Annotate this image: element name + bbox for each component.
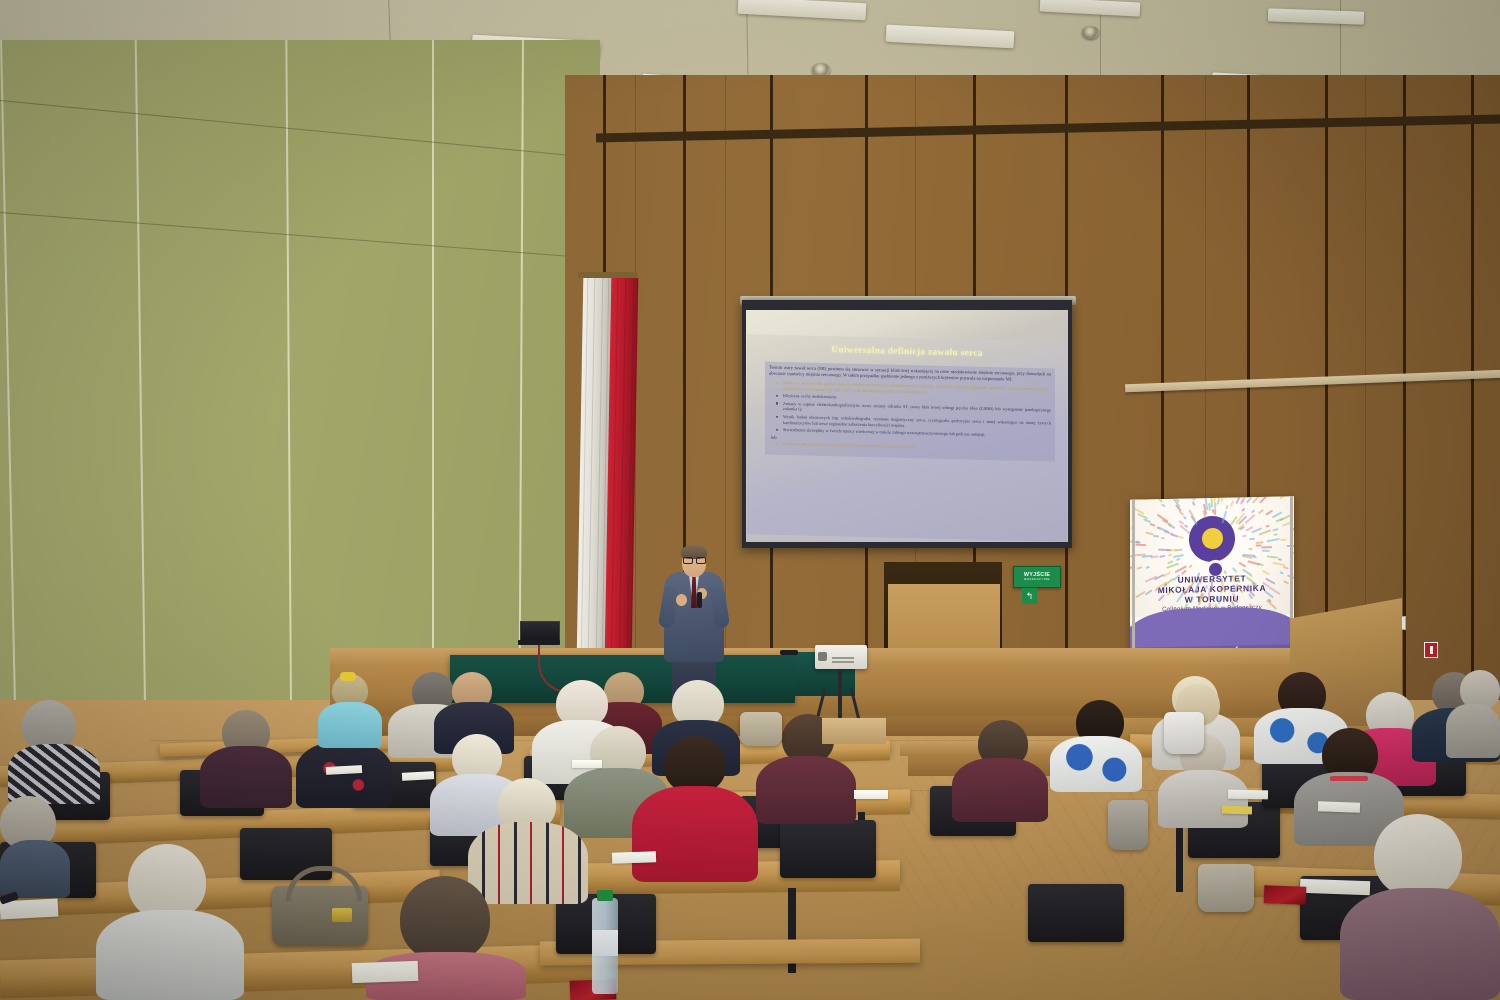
umk-logo-core-icon	[1202, 528, 1223, 549]
banner-ray-decoration	[1267, 538, 1280, 542]
exit-sign-line2: EWAKUACYJNE	[1024, 578, 1050, 581]
projector-vent	[832, 657, 854, 659]
projection-screen: Uniwersalna definicja zawału serca Termi…	[746, 310, 1068, 542]
banner-ray-decoration	[1265, 525, 1269, 528]
banner-ray-decoration	[1251, 509, 1255, 513]
banner-ray-decoration	[1214, 509, 1216, 515]
chair[interactable]	[780, 820, 876, 878]
banner-ray-decoration	[1149, 523, 1155, 527]
handout-paper[interactable]	[612, 851, 656, 864]
banner-ray-decoration	[1224, 570, 1227, 574]
remote-control[interactable]	[780, 650, 798, 655]
banner-ray-decoration	[1249, 537, 1255, 540]
banner-ray-decoration	[1189, 564, 1193, 568]
projector-vent	[832, 661, 854, 663]
exit-arrow-glyph: ↰	[1026, 591, 1034, 602]
handout-paper[interactable]	[1300, 879, 1370, 895]
glasses-icon	[683, 557, 704, 562]
banner-ray-decoration	[1230, 500, 1234, 506]
ceiling-speaker	[1082, 26, 1099, 39]
handbag[interactable]	[740, 712, 782, 746]
banner-ray-decoration	[1145, 532, 1154, 536]
banner-ray-decoration	[1192, 501, 1196, 505]
projector-lens-icon	[818, 652, 827, 661]
exit-arrow-icon: ↰	[1022, 588, 1037, 604]
banner-ray-decoration	[1153, 535, 1159, 538]
yellow-flyer[interactable]	[1222, 805, 1252, 814]
banner-ray-decoration	[1146, 566, 1150, 569]
banner-ray-decoration	[1240, 499, 1245, 505]
tote-bag[interactable]	[1198, 864, 1254, 912]
banner-ray-decoration	[1168, 554, 1172, 557]
handout-paper[interactable]	[1228, 790, 1268, 800]
hair-clip	[340, 672, 356, 681]
notebook[interactable]	[352, 961, 419, 983]
handout-paper[interactable]	[572, 760, 602, 768]
slide-body: Termin ostry zawał serca (MI) powinno si…	[765, 362, 1055, 462]
handbag[interactable]	[1108, 800, 1148, 850]
ceiling-light	[886, 25, 1015, 49]
banner-ray-decoration	[1232, 567, 1238, 573]
banner-ray-decoration	[1213, 496, 1215, 503]
banner-ray-decoration	[1211, 497, 1213, 508]
bottle-label	[592, 930, 618, 956]
banner-ray-decoration	[1248, 548, 1252, 551]
emergency-exit-sign: WYJŚCIE EWAKUACYJNE	[1013, 566, 1061, 588]
banner-ray-decoration	[1161, 503, 1165, 507]
banner-ray-decoration	[1255, 544, 1261, 546]
banner-ray-decoration	[1158, 549, 1171, 552]
banner-ray-decoration	[1265, 510, 1273, 516]
banner-ray-decoration	[1135, 544, 1146, 547]
handout-paper[interactable]	[854, 790, 888, 799]
handout-paper[interactable]	[402, 771, 434, 781]
presentation-slide: Uniwersalna definicja zawału serca Termi…	[747, 334, 1067, 542]
banner-logo-area: UNIWERSYTET MIKOŁAJA KOPERNIKA W TORUNIU…	[1130, 496, 1294, 617]
banner-ray-decoration	[1225, 505, 1228, 509]
banner-ray-decoration	[1272, 528, 1278, 531]
banner-ray-decoration	[1259, 529, 1272, 535]
banner-ray-decoration	[1183, 516, 1187, 520]
banner-ray-decoration	[1246, 496, 1253, 504]
banner-ray-decoration	[1267, 555, 1278, 558]
banner-ray-decoration	[1279, 496, 1283, 499]
microphone[interactable]	[697, 592, 702, 608]
banner-ray-decoration	[1156, 527, 1160, 530]
banner-ray-decoration	[1258, 509, 1264, 514]
banner-ray-decoration	[1241, 508, 1245, 512]
chair[interactable]	[1028, 884, 1124, 942]
banner-ray-decoration	[1273, 533, 1277, 536]
slide-title: Uniwersalna definicja zawału serca	[747, 343, 1067, 361]
banner-ray-decoration	[1282, 566, 1289, 570]
banner-ray-decoration	[1136, 566, 1142, 570]
bottle-cap[interactable]	[597, 890, 613, 901]
ceiling-light	[1040, 0, 1141, 17]
banner-ray-decoration	[1159, 555, 1165, 558]
fire-extinguisher-sign	[1424, 642, 1438, 658]
ceiling-light	[738, 0, 867, 20]
lecture-hall-photo: Uniwersalna definicja zawału serca Termi…	[0, 0, 1500, 1000]
banner-ray-decoration	[1211, 580, 1213, 591]
handout-paper[interactable]	[1318, 801, 1360, 812]
banner-ray-decoration	[1257, 562, 1263, 566]
banner-ray-decoration	[1259, 496, 1269, 503]
banner-ray-decoration	[1238, 562, 1246, 568]
banner-ray-decoration	[1278, 558, 1282, 561]
cardboard-box	[822, 718, 886, 744]
banner-ray-decoration	[1178, 536, 1184, 539]
lanyard	[1330, 776, 1368, 781]
banner-ray-decoration	[1242, 535, 1246, 538]
backpack[interactable]	[1164, 712, 1204, 754]
handbag-clasp	[332, 908, 352, 922]
banner-ray-decoration	[1253, 556, 1257, 559]
banner-ray-decoration	[1143, 518, 1152, 523]
banner-ray-decoration	[1280, 539, 1286, 541]
polish-flag-drape	[577, 278, 639, 658]
speaker-hand-left	[676, 594, 687, 606]
ceiling-light	[1268, 8, 1364, 24]
banner-ray-decoration	[1262, 546, 1273, 548]
red-brochure[interactable]	[1264, 885, 1307, 904]
banner-ray-decoration	[1261, 550, 1270, 553]
banner-ray-decoration	[1176, 558, 1180, 562]
banner-ray-decoration	[1161, 537, 1165, 539]
